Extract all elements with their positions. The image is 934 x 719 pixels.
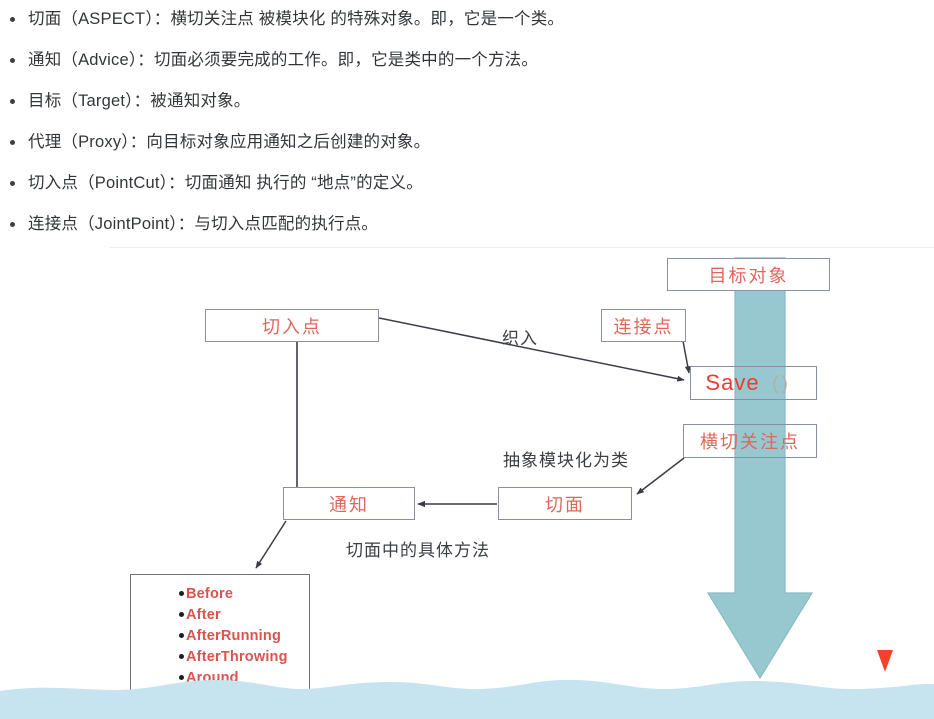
bullet-dot-icon <box>179 654 184 659</box>
label-concrete-method: 切面中的具体方法 <box>346 536 490 561</box>
arrow-concern-to-aspect <box>637 458 684 494</box>
list-item: Before <box>179 583 309 604</box>
label-weaving: 织入 <box>502 324 538 349</box>
list-item: Around <box>179 667 309 688</box>
box-advice-types[interactable]: Before After AfterRunning AfterThrowing … <box>130 574 310 694</box>
box-target-object[interactable]: 目标对象 <box>667 258 830 291</box>
bullet-dot-icon <box>10 17 15 22</box>
advice-type-label: AfterRunning <box>186 628 281 644</box>
aop-diagram: 切入点 目标对象 连接点 Save （） 横切关注点 通知 切面 织入 抽象模块… <box>0 248 934 719</box>
box-joinpoint-label: 连接点 <box>614 313 674 339</box>
list-item: 代理（Proxy）：向目标对象应用通知之后创建的对象。 <box>10 127 430 157</box>
box-crosscutting-concern-label: 横切关注点 <box>700 428 800 454</box>
advice-type-label: Before <box>186 586 233 602</box>
bullet-dot-icon <box>179 612 184 617</box>
box-advice-label: 通知 <box>329 491 369 517</box>
box-target-object-label: 目标对象 <box>709 262 789 288</box>
label-abstract-module: 抽象模块化为类 <box>503 446 629 471</box>
list-item: 通知（Advice）：切面必须要完成的工作。即，它是类中的一个方法。 <box>10 45 538 75</box>
bullet-dot-icon <box>10 58 15 63</box>
glossary-item-text: 通知（Advice）：切面必须要完成的工作。即，它是类中的一个方法。 <box>28 52 538 69</box>
advice-type-label: Around <box>186 670 239 686</box>
bullet-dot-icon <box>179 591 184 596</box>
box-pointcut-label: 切入点 <box>262 313 322 339</box>
arrow-joinpoint-to-save <box>683 341 689 373</box>
bullet-dot-icon <box>10 99 15 104</box>
target-flow-arrow-icon <box>708 258 812 678</box>
bullet-dot-icon <box>10 222 15 227</box>
glossary-item-text: 目标（Target）：被通知对象。 <box>28 93 251 110</box>
box-save-method[interactable]: Save （） <box>690 366 817 400</box>
glossary-item-text: 切入点（PointCut）：切面通知 执行的 “地点”的定义。 <box>28 175 423 192</box>
list-item: 切面（ASPECT）：横切关注点 被模块化 的特殊对象。即，它是一个类。 <box>10 4 564 34</box>
box-advice[interactable]: 通知 <box>283 487 415 520</box>
list-item: 切入点（PointCut）：切面通知 执行的 “地点”的定义。 <box>10 168 423 198</box>
box-aspect[interactable]: 切面 <box>498 487 632 520</box>
bullet-dot-icon <box>179 675 184 680</box>
bullet-dot-icon <box>10 181 15 186</box>
box-crosscutting-concern[interactable]: 横切关注点 <box>683 424 817 458</box>
glossary-list: 切面（ASPECT）：横切关注点 被模块化 的特殊对象。即，它是一个类。 通知（… <box>0 0 934 246</box>
arrow-advice-to-advice-types <box>256 521 286 568</box>
bullet-dot-icon <box>10 140 15 145</box>
advice-type-label: AfterThrowing <box>186 649 288 665</box>
glossary-item-text: 切面（ASPECT）：横切关注点 被模块化 的特殊对象。即，它是一个类。 <box>28 11 564 28</box>
glossary-item-text: 代理（Proxy）：向目标对象应用通知之后创建的对象。 <box>28 134 430 151</box>
box-aspect-label: 切面 <box>545 491 585 517</box>
glossary-item-text: 连接点（JointPoint）：与切入点匹配的执行点。 <box>28 216 378 233</box>
bullet-dot-icon <box>179 633 184 638</box>
box-pointcut[interactable]: 切入点 <box>205 309 379 342</box>
box-save-method-parens: （） <box>760 369 802 398</box>
box-save-method-label: Save <box>705 370 759 396</box>
list-item: 连接点（JointPoint）：与切入点匹配的执行点。 <box>10 209 378 239</box>
advice-type-label: After <box>186 607 221 623</box>
list-item: AfterThrowing <box>179 646 309 667</box>
box-joinpoint[interactable]: 连接点 <box>601 309 686 342</box>
red-down-arrow-icon <box>877 258 893 672</box>
list-item: AfterRunning <box>179 625 309 646</box>
list-item: After <box>179 604 309 625</box>
list-item: 目标（Target）：被通知对象。 <box>10 86 251 116</box>
